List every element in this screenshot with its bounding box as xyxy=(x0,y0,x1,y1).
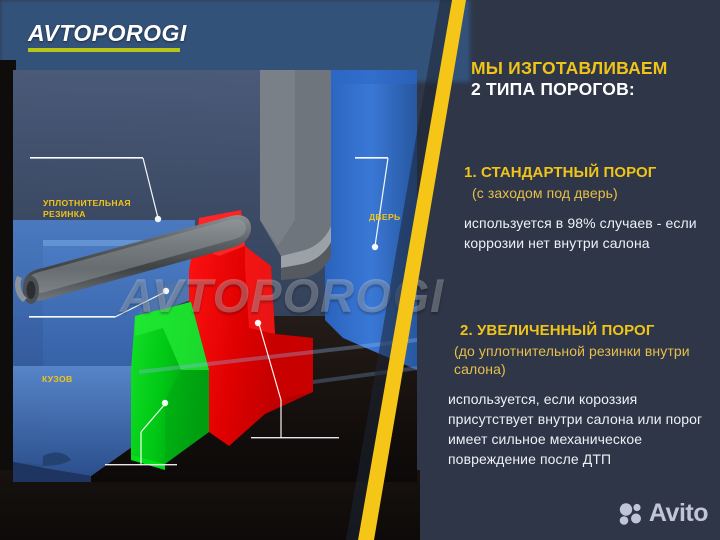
section-enlarged-subtitle: (до уплотнительной резинки внутри салона… xyxy=(446,342,720,378)
avito-watermark: Avito xyxy=(618,501,708,526)
headline: МЫ ИЗГОТАВЛИВАЕМ 2 ТИПА ПОРОГОВ: xyxy=(471,58,720,101)
label-sealing-rubber: УПЛОТНИТЕЛЬНАЯ РЕЗИНКА xyxy=(43,198,131,220)
section-standard: 1. СТАНДАРТНЫЙ ПОРОГ (с заходом под двер… xyxy=(450,164,720,254)
brand-logo: AVTOPOROGI xyxy=(28,22,187,52)
sill-diagram: УПЛОТНИТЕЛЬНАЯ РЕЗИНКА ДВЕРЬ КУЗОВ СТАНД… xyxy=(13,70,417,482)
label-door: ДВЕРЬ xyxy=(369,212,400,223)
section-enlarged-body: используется, если короззия присутствует… xyxy=(446,390,720,470)
section-standard-title: 1. СТАНДАРТНЫЙ ПОРОГ xyxy=(450,164,720,183)
diagram-artwork xyxy=(13,70,417,482)
promo-image: УПЛОТНИТЕЛЬНАЯ РЕЗИНКА ДВЕРЬ КУЗОВ СТАНД… xyxy=(0,0,720,540)
avito-wordmark: Avito xyxy=(649,501,708,526)
avito-logo-icon xyxy=(618,502,644,526)
logo-underline xyxy=(28,48,180,52)
label-body: КУЗОВ xyxy=(42,374,72,385)
section-standard-subtitle: (с заходом под дверь) xyxy=(450,184,720,202)
section-standard-body: используется в 98% случаев - если корроз… xyxy=(450,214,720,254)
section-enlarged-title: 2. УВЕЛИЧЕННЫЙ ПОРОГ xyxy=(446,322,720,341)
text-panel: МЫ ИЗГОТАВЛИВАЕМ 2 ТИПА ПОРОГОВ: 1. СТАН… xyxy=(438,0,720,540)
logo-text: AVTOPOROGI xyxy=(28,22,187,45)
headline-line-1: МЫ ИЗГОТАВЛИВАЕМ xyxy=(471,58,720,79)
headline-line-2: 2 ТИПА ПОРОГОВ: xyxy=(471,79,720,100)
section-enlarged: 2. УВЕЛИЧЕННЫЙ ПОРОГ (до уплотнительной … xyxy=(446,322,720,470)
